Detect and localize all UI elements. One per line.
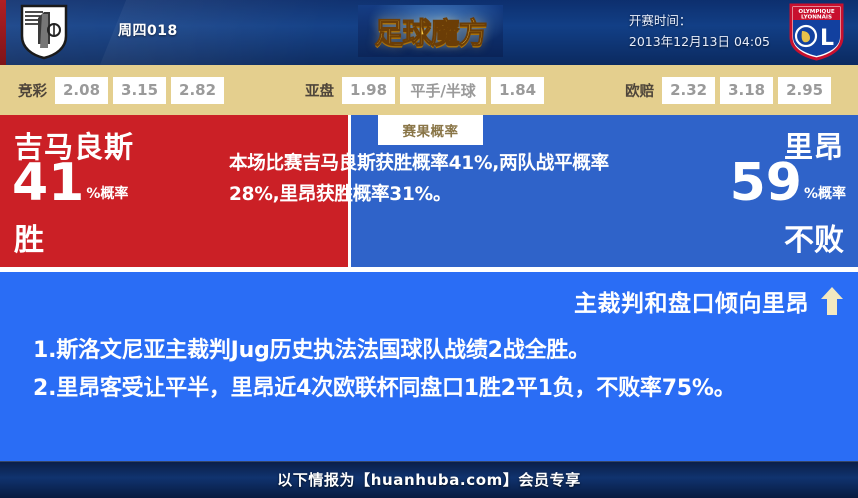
svg-text:LYONNAIS: LYONNAIS (801, 15, 832, 21)
probability-row: 吉马良斯 41 %概率 胜 赛果概率 本场比赛吉马良斯获胜概率41%,两队战平概… (0, 115, 858, 267)
odds-group-title: 欧赔 (625, 80, 654, 101)
away-probability-panel: 里昂 59 %概率 不败 (622, 115, 858, 267)
list-item: 2.里昂客受让平半，里昂近4次欧联杯同盘口1胜2平1负，不败率75%。 (33, 370, 830, 408)
odds-group-title: 竞彩 (18, 80, 47, 101)
home-probability-value: 41 %概率 (12, 157, 128, 209)
away-probability-value: 59 %概率 (730, 157, 846, 209)
analysis-heading: 主裁判和盘口倾向里昂 (574, 284, 844, 318)
analysis-heading-text: 主裁判和盘口倾向里昂 (574, 284, 809, 318)
match-preview-card: 周四018 足球魔方 开赛时间： 2013年12月13日 04:05 OLYMP… (0, 0, 858, 498)
tab-result-probability-label: 赛果概率 (403, 120, 459, 140)
analysis-items: 1.斯洛文尼亚主裁判Jug历史执法法国球队战绩2战全胜。 2.里昂客受让平半，里… (33, 332, 830, 408)
odds-cell[interactable]: 2.82 (171, 77, 224, 104)
footer-bar: 以下情报为【huanhuba.com】会员专享 (0, 461, 858, 498)
home-percent-suffix: %概率 (84, 183, 128, 209)
odds-cell[interactable]: 1.84 (491, 77, 544, 104)
odds-cell[interactable]: 3.18 (720, 77, 773, 104)
olympique-lyonnais-crest: OLYMPIQUE LYONNAIS L (789, 3, 844, 61)
vitoria-guimaraes-crest (20, 4, 68, 60)
odds-group-yapan: 亚盘 1.98 平手/半球 1.84 (305, 77, 549, 104)
odds-cell[interactable]: 2.08 (55, 77, 108, 104)
kickoff-value: 2013年12月13日 04:05 (629, 31, 770, 52)
odds-cell[interactable]: 2.32 (662, 77, 715, 104)
odds-cell-handicap[interactable]: 平手/半球 (400, 77, 486, 104)
odds-cell[interactable]: 3.15 (113, 77, 166, 104)
analysis-panel: 主裁判和盘口倾向里昂 1.斯洛文尼亚主裁判Jug历史执法法国球队战绩2战全胜。 … (0, 272, 858, 461)
odds-bar: 竞彩 2.08 3.15 2.82 亚盘 1.98 平手/半球 1.84 欧赔 … (0, 65, 858, 115)
match-round-label: 周四018 (118, 20, 178, 40)
odds-cell[interactable]: 2.95 (778, 77, 831, 104)
probability-summary-panel: 赛果概率 本场比赛吉马良斯获胜概率41%,两队战平概率28%,里昂获胜概率31%… (351, 115, 622, 267)
odds-cell[interactable]: 1.98 (342, 77, 395, 104)
list-item: 1.斯洛文尼亚主裁判Jug历史执法法国球队战绩2战全胜。 (33, 332, 830, 370)
odds-group-title: 亚盘 (305, 80, 334, 101)
home-outcome-label: 胜 (14, 215, 44, 259)
brand-logo: 足球魔方 (358, 5, 503, 57)
kickoff-label: 开赛时间： (629, 10, 770, 31)
away-outcome-label: 不败 (784, 215, 844, 259)
odds-group-jingcai: 竞彩 2.08 3.15 2.82 (18, 77, 229, 104)
away-percent-suffix: %概率 (802, 183, 846, 209)
tab-result-probability[interactable]: 赛果概率 (378, 115, 483, 145)
footer-text: 以下情报为【huanhuba.com】会员专享 (277, 469, 581, 490)
away-percent-number: 59 (730, 157, 802, 209)
arrow-up-icon (820, 286, 844, 316)
home-percent-number: 41 (12, 157, 84, 209)
kickoff-time: 开赛时间： 2013年12月13日 04:05 (629, 10, 770, 52)
svg-text:L: L (820, 26, 834, 51)
odds-group-oupei: 欧赔 2.32 3.18 2.95 (625, 77, 836, 104)
probability-summary-text: 本场比赛吉马良斯获胜概率41%,两队战平概率28%,里昂获胜概率31%。 (229, 148, 621, 210)
header: 周四018 足球魔方 开赛时间： 2013年12月13日 04:05 OLYMP… (0, 0, 858, 65)
brand-logo-text: 足球魔方 (374, 10, 486, 52)
